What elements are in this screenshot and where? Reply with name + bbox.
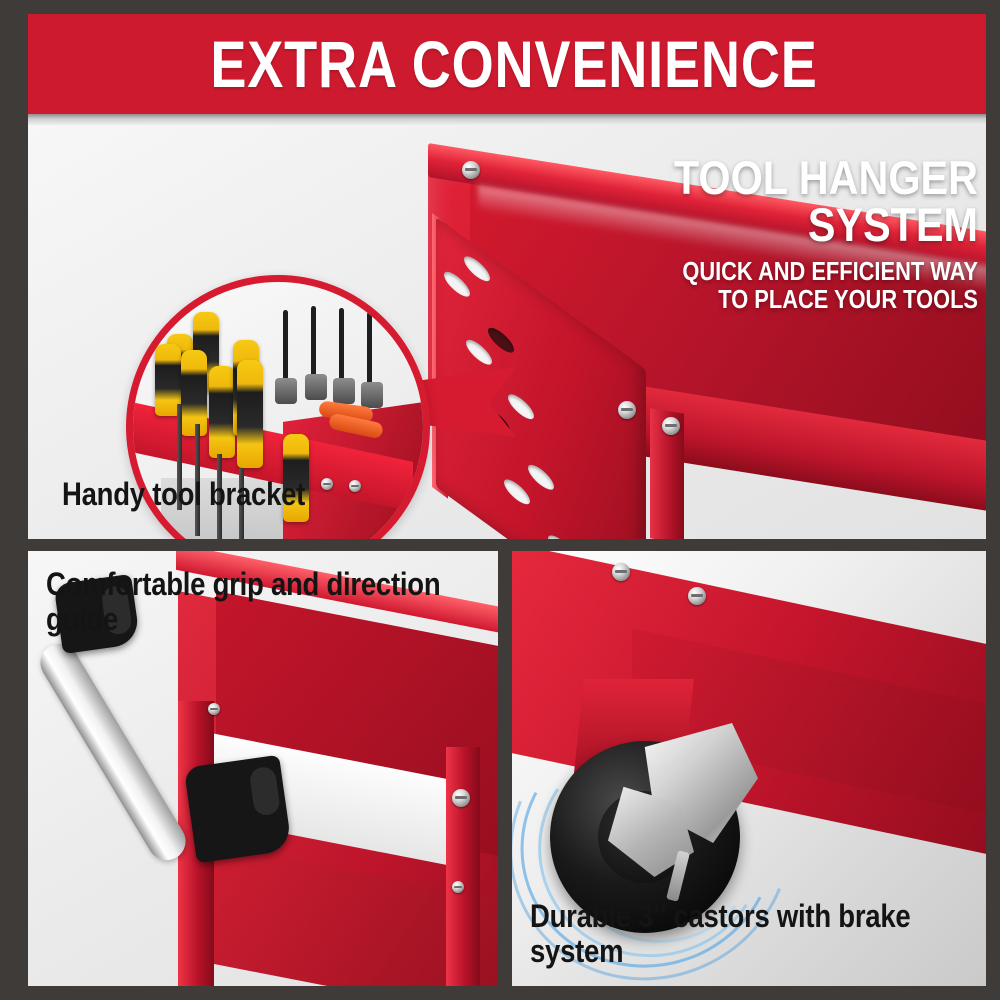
grip-photo: Comfortable grip and direction guide (28, 551, 498, 1000)
socket-bit (305, 374, 327, 400)
screw-icon (208, 703, 220, 715)
screw-icon (688, 587, 706, 605)
panel-durable-castors: Durable 3″ castors with brake system (512, 551, 1000, 1000)
handle-grip-bottom (184, 755, 292, 863)
screwdriver (237, 360, 263, 468)
screw-icon (618, 401, 636, 419)
panel-tool-hanger-system: TOOL HANGER SYSTEM QUICK AND EFFICIENT W… (28, 125, 1000, 539)
screw-icon (321, 478, 333, 490)
headline-line-1: TOOL HANGER (608, 155, 978, 201)
socket-bit (333, 378, 355, 404)
socket-bit (275, 378, 297, 404)
screw-icon (662, 417, 680, 435)
tool-hanger-photo: TOOL HANGER SYSTEM QUICK AND EFFICIENT W… (28, 125, 1000, 539)
hanger-hole (488, 323, 514, 358)
subheadline-line-2: TO PLACE YOUR TOOLS (625, 285, 978, 313)
caption-durable-castors: Durable 3″ castors with brake system (530, 899, 934, 968)
hanger-hole (504, 474, 530, 509)
hanger-hole (548, 530, 574, 539)
screwdriver (209, 366, 235, 458)
castor-photo: Durable 3″ castors with brake system (512, 551, 1000, 1000)
screw-icon (462, 161, 480, 179)
panel-comfortable-grip: Comfortable grip and direction guide (28, 551, 498, 1000)
screwdriver (181, 350, 207, 436)
headline-block: TOOL HANGER SYSTEM QUICK AND EFFICIENT W… (558, 155, 978, 313)
hanger-hole (528, 460, 554, 495)
hanger-hole (464, 251, 490, 286)
product-feature-poster: EXTRA CONVENIENCE (0, 0, 1000, 1000)
hanger-hole (444, 267, 470, 302)
screw-icon (452, 881, 464, 893)
banner-shadow-strip (28, 114, 1000, 125)
screw-icon (452, 789, 470, 807)
caption-comfortable-grip: Comfortable grip and direction guide (46, 567, 450, 636)
screw-icon (612, 563, 630, 581)
caption-handy-tool-bracket: Handy tool bracket (62, 477, 305, 512)
banner-title: EXTRA CONVENIENCE (115, 14, 912, 114)
cart-upright-post (446, 747, 480, 1000)
subheadline-line-1: QUICK AND EFFICIENT WAY (625, 257, 978, 285)
screw-icon (349, 480, 361, 492)
header-banner: EXTRA CONVENIENCE (28, 14, 1000, 114)
headline-line-2: SYSTEM (608, 201, 978, 249)
hanger-hole (466, 335, 492, 370)
hanger-hole (508, 389, 534, 424)
socket-bit (361, 382, 383, 408)
